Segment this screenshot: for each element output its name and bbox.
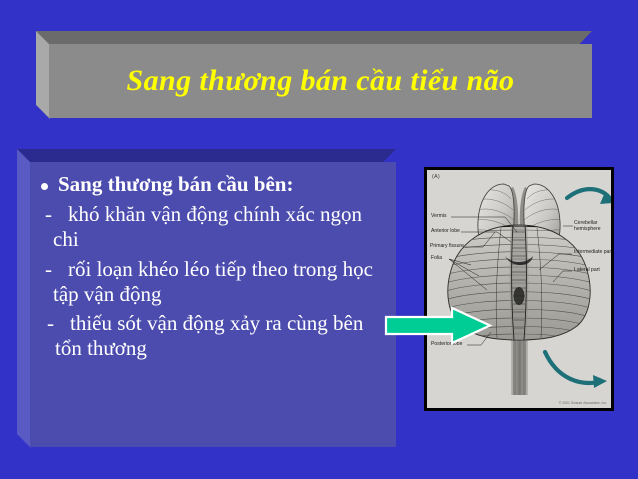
list-item: -khó khăn vận động chính xác ngọn chi	[30, 197, 396, 252]
list-item-label: khó khăn vận động chính xác ngọn chi	[53, 202, 362, 251]
figure-label-anterior-lobe: Anterior lobe	[431, 228, 460, 234]
list-item-label: thiếu sót vận động xảy ra cùng bên tổn t…	[55, 311, 363, 360]
figure-panel-label: (A)	[432, 174, 440, 180]
list-item-label: rối loạn khéo léo tiếp theo trong học tậ…	[53, 257, 373, 306]
title-box-bevel-top	[36, 31, 592, 45]
list-item: Sang thương bán cầu bên:	[30, 171, 396, 197]
figure-label-primary-fissure: Primary fissure	[430, 243, 464, 249]
list-item-label: Sang thương bán cầu bên:	[58, 171, 293, 197]
figure-label-lateral-part: Lateral part	[574, 267, 614, 273]
body-box-bevel-left	[17, 149, 31, 448]
body-box-bevel-top	[17, 149, 396, 163]
figure-credit: © 2001 Sinauer Associates, Inc.	[559, 401, 607, 405]
dash-marker-icon: -	[51, 311, 70, 336]
page-title: Sang thương bán cầu tiểu não	[127, 66, 515, 96]
figure-label-vermis: Vermis	[431, 213, 447, 219]
bullet-list: Sang thương bán cầu bên: -khó khăn vận đ…	[30, 171, 396, 361]
list-item: -rối loạn khéo léo tiếp theo trong học t…	[30, 252, 396, 307]
figure-label-folia: Folia	[431, 255, 442, 261]
dash-marker-icon: -	[49, 202, 68, 227]
presentation-slide: Sang thương bán cầu tiểu não Sang thương…	[0, 0, 638, 479]
body-box-face: Sang thương bán cầu bên: -khó khăn vận đ…	[30, 162, 396, 447]
slide-body-box: Sang thương bán cầu bên: -khó khăn vận đ…	[17, 149, 396, 448]
slide-title-box: Sang thương bán cầu tiểu não	[36, 31, 592, 119]
list-item: -thiếu sót vận động xảy ra cùng bên tổn …	[30, 306, 396, 361]
title-box-face: Sang thương bán cầu tiểu não	[49, 44, 592, 118]
figure-label-intermediate-part: Intermediate part	[574, 249, 614, 255]
title-box-bevel-left	[36, 31, 50, 119]
cerebellum-figure: (A) Vermis Anterior lobe Primary fissure…	[424, 167, 614, 411]
figure-canvas: (A) Vermis Anterior lobe Primary fissure…	[427, 170, 611, 408]
bullet-dot-icon	[41, 183, 48, 190]
green-right-arrow-icon	[386, 306, 490, 345]
figure-label-cerebellar-hemisphere: Cerebellar hemisphere	[574, 220, 614, 233]
dash-marker-icon: -	[49, 257, 68, 282]
curved-arrow-bottom	[545, 352, 607, 388]
curved-arrow-top	[567, 189, 613, 204]
cerebellum-illustration	[427, 170, 611, 408]
